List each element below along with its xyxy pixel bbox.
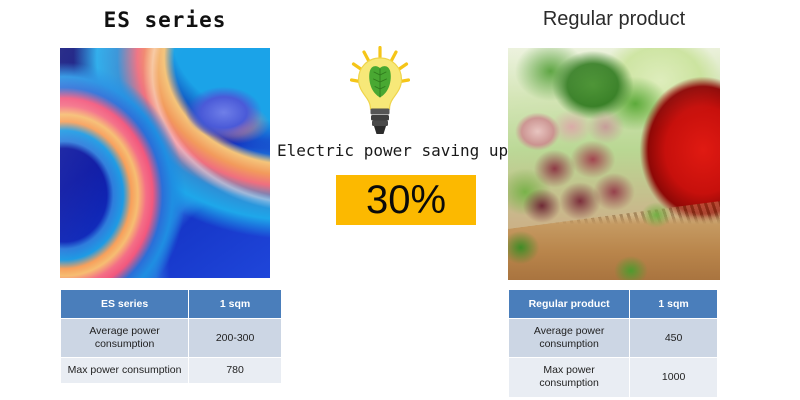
left-table-header-area: 1 sqm xyxy=(189,290,282,319)
left-row-max-label: Max power consumption xyxy=(61,358,189,384)
slide-root: ES series xyxy=(0,0,800,400)
right-table-header-area: 1 sqm xyxy=(630,290,718,319)
savings-badge: 30% xyxy=(336,175,476,225)
table-row: Average power consumption 200-300 xyxy=(61,319,282,358)
left-table-header-product: ES series xyxy=(61,290,189,319)
bulb-base-ring-1 xyxy=(371,109,390,115)
table-header-row: ES series 1 sqm xyxy=(61,290,282,319)
power-saving-caption: Electric power saving up to xyxy=(277,141,537,160)
table-row: Max power consumption 780 xyxy=(61,358,282,384)
right-row-avg-value: 450 xyxy=(630,319,718,358)
right-product-image xyxy=(508,48,720,280)
table-row: Average power consumption 450 xyxy=(509,319,718,358)
right-table-header-product: Regular product xyxy=(509,290,630,319)
right-row-max-value: 1000 xyxy=(630,358,718,397)
right-panel-title: Regular product xyxy=(508,8,720,31)
left-product-image xyxy=(60,48,270,278)
table-header-row: Regular product 1 sqm xyxy=(509,290,718,319)
eco-lightbulb-icon xyxy=(350,46,410,138)
right-row-avg-label: Average power consumption xyxy=(509,319,630,358)
left-panel-title: ES series xyxy=(60,8,270,32)
right-spec-table: Regular product 1 sqm Average power cons… xyxy=(508,289,718,398)
bulb-base-ring-3 xyxy=(372,121,388,127)
table-row: Max power consumption 1000 xyxy=(509,358,718,397)
photo-gloss-layer xyxy=(508,48,720,280)
left-row-avg-label: Average power consumption xyxy=(61,319,189,358)
left-row-max-value: 780 xyxy=(189,358,282,384)
savings-badge-value: 30% xyxy=(366,180,446,220)
left-spec-table: ES series 1 sqm Average power consumptio… xyxy=(60,289,282,384)
left-row-avg-value: 200-300 xyxy=(189,319,282,358)
wallpaper-sheen-layer xyxy=(60,48,270,278)
bulb-base-ring-2 xyxy=(371,115,389,121)
right-row-max-label: Max power consumption xyxy=(509,358,630,397)
bulb-contact-tip xyxy=(374,126,386,134)
